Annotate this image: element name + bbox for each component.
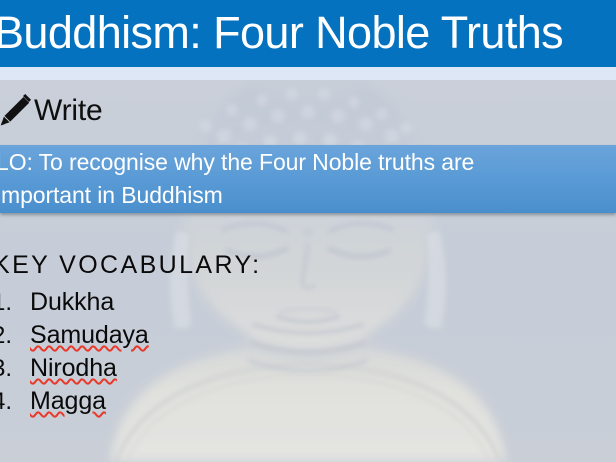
vocabulary-item-number: 4. (0, 385, 30, 418)
title-underline-band (0, 67, 616, 80)
list-item: 3. Nirodha (0, 352, 300, 385)
pencil-icon (0, 94, 32, 128)
learning-objective-text: LO: To recognise why the Four Noble trut… (0, 146, 556, 212)
learning-objective-banner: LO: To recognise why the Four Noble trut… (0, 145, 616, 213)
vocabulary-item-number: 1. (0, 286, 30, 319)
vocabulary-item-word: Samudaya (30, 319, 149, 352)
slide-title-bar: Buddhism: Four Noble Truths (0, 0, 616, 67)
list-item: 1. Dukkha (0, 286, 300, 319)
vocabulary-item-word: Dukkha (30, 286, 114, 319)
list-item: 4. Magga (0, 385, 300, 418)
key-vocabulary-block: KEY VOCABULARY: 1. Dukkha 2. Samudaya 3.… (0, 248, 300, 418)
slide-canvas: Buddhism: Four Noble Truths Write LO: To… (0, 0, 616, 462)
write-label: Write (34, 94, 102, 128)
vocabulary-list: 1. Dukkha 2. Samudaya 3. Nirodha 4. Magg… (0, 286, 300, 418)
vocabulary-item-number: 3. (0, 352, 30, 385)
page-title: Buddhism: Four Noble Truths (0, 3, 563, 63)
list-item: 2. Samudaya (0, 319, 300, 352)
write-instruction-row: Write (0, 89, 102, 133)
key-vocabulary-heading: KEY VOCABULARY: (0, 248, 300, 282)
vocabulary-item-word: Nirodha (30, 352, 117, 385)
vocabulary-item-number: 2. (0, 319, 30, 352)
vocabulary-item-word: Magga (30, 385, 106, 418)
